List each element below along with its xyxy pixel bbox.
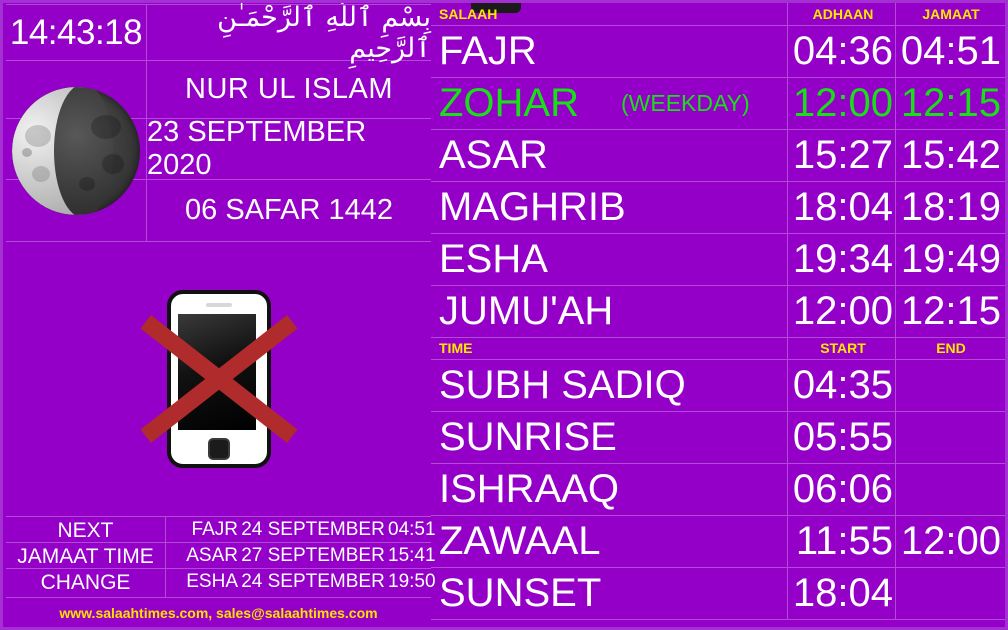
prayer-jamaat: 18:19	[897, 181, 1001, 233]
next-change-date: 24 SEPTEMBER	[238, 571, 388, 593]
prayer-jamaat: 04:51	[897, 25, 1001, 77]
table-row: SUBH SADIQ 04:35	[431, 359, 1008, 411]
next-change-prayer: ESHA	[166, 571, 238, 593]
time-name: SUBH SADIQ	[439, 359, 686, 411]
time-start: 05:55	[789, 411, 893, 463]
next-jamaat-change-rows: FAJR 24 SEPTEMBER 04:51 ASAR 27 SEPTEMBE…	[166, 517, 431, 597]
prayer-jamaat: 19:49	[897, 233, 1001, 285]
next-jamaat-change-block: NEXT JAMAAT TIME CHANGE FAJR 24 SEPTEMBE…	[6, 517, 431, 597]
time-end	[897, 411, 1001, 463]
prayer-name: FAJR	[439, 25, 537, 77]
time-name: ISHRAAQ	[439, 463, 619, 515]
next-change-row: FAJR 24 SEPTEMBER 04:51	[166, 517, 431, 543]
prayer-name: JUMU'AH	[439, 285, 613, 337]
next-label-line-2: JAMAAT TIME	[17, 544, 154, 570]
next-change-date: 24 SEPTEMBER	[238, 519, 388, 541]
prayer-table: SALAAH ADHAAN JAMAAT FAJR 04:36 04:51 ZO…	[431, 3, 1008, 627]
header-end: END	[901, 340, 1001, 356]
mosque-name: NUR UL ISLAM	[147, 61, 431, 118]
prayer-name: MAGHRIB	[439, 181, 626, 233]
table-row: ESHA 19:34 19:49	[431, 233, 1008, 285]
no-mobile-phone-icon	[6, 243, 431, 515]
table-row: MAGHRIB 18:04 18:19	[431, 181, 1008, 233]
prayer-jamaat: 12:15	[897, 285, 1001, 337]
next-label-line-3: CHANGE	[41, 570, 131, 596]
next-change-prayer: FAJR	[166, 519, 238, 541]
next-change-row: ASAR 27 SEPTEMBER 15:41	[166, 543, 431, 569]
prayer-adhaan: 12:00	[789, 77, 893, 129]
time-end	[897, 359, 1001, 411]
prayer-jamaat: 12:15	[897, 77, 1001, 129]
table-row: FAJR 04:36 04:51	[431, 25, 1008, 77]
header-salaah: SALAAH	[439, 6, 497, 22]
prayer-adhaan: 19:34	[789, 233, 893, 285]
clock: 14:43:18	[6, 5, 146, 60]
next-change-row: ESHA 24 SEPTEMBER 19:50	[166, 569, 431, 595]
table-row: ZOHAR (WEEKDAY) 12:00 12:15	[431, 77, 1008, 129]
time-start: 06:06	[789, 463, 893, 515]
time-end: 12:00	[897, 515, 1001, 567]
table-row: ASAR 15:27 15:42	[431, 129, 1008, 181]
header-adhaan: ADHAAN	[793, 6, 893, 22]
footer-contact: www.salaahtimes.com, sales@salaahtimes.c…	[6, 598, 431, 627]
prayer-times-display: 14:43:18 بِسْمِ ٱللَّهِ ٱلرَّحْمَـٰنِ ٱل…	[0, 0, 1008, 630]
header-time: TIME	[439, 340, 472, 356]
header-jamaat: JAMAAT	[901, 6, 1001, 22]
prayer-name: ZOHAR	[439, 77, 579, 129]
prayer-name: ESHA	[439, 233, 548, 285]
table-row: SUNSET 18:04	[431, 567, 1008, 619]
time-name: SUNSET	[439, 567, 601, 619]
time-table-header: TIME START END	[431, 337, 1008, 359]
next-label-line-1: NEXT	[57, 518, 113, 544]
prayer-adhaan: 18:04	[789, 181, 893, 233]
prayer-adhaan: 15:27	[789, 129, 893, 181]
moon-phase-icon	[6, 61, 146, 241]
table-row: ZAWAAL 11:55 12:00	[431, 515, 1008, 567]
prayer-adhaan: 12:00	[789, 285, 893, 337]
gregorian-date: 23 SEPTEMBER 2020	[147, 119, 431, 179]
left-panel: 14:43:18 بِسْمِ ٱللَّهِ ٱلرَّحْمَـٰنِ ٱل…	[6, 3, 431, 627]
header-start: START	[793, 340, 893, 356]
prayer-note: (WEEKDAY)	[621, 77, 750, 129]
time-name: SUNRISE	[439, 411, 617, 463]
table-row: ISHRAAQ 06:06	[431, 463, 1008, 515]
table-row: SUNRISE 05:55	[431, 411, 1008, 463]
table-row: JUMU'AH 12:00 12:15	[431, 285, 1008, 337]
next-jamaat-change-label: NEXT JAMAAT TIME CHANGE	[6, 517, 165, 597]
prayer-name: ASAR	[439, 129, 548, 181]
time-start: 04:35	[789, 359, 893, 411]
next-change-date: 27 SEPTEMBER	[238, 545, 388, 567]
next-change-time: 15:41	[388, 545, 430, 567]
time-end	[897, 567, 1001, 619]
bismillah-text: بِسْمِ ٱللَّهِ ٱلرَّحْمَـٰنِ ٱلرَّحِيمِ	[147, 5, 431, 60]
time-end	[897, 463, 1001, 515]
next-change-prayer: ASAR	[166, 545, 238, 567]
next-change-time: 04:51	[388, 519, 430, 541]
salaah-table-header: SALAAH ADHAAN JAMAAT	[431, 3, 1008, 25]
hijri-date: 06 SAFAR 1442	[147, 180, 431, 241]
prayer-adhaan: 04:36	[789, 25, 893, 77]
prayer-jamaat: 15:42	[897, 129, 1001, 181]
time-start: 11:55	[789, 515, 893, 567]
time-name: ZAWAAL	[439, 515, 601, 567]
time-start: 18:04	[789, 567, 893, 619]
next-change-time: 19:50	[388, 571, 430, 593]
